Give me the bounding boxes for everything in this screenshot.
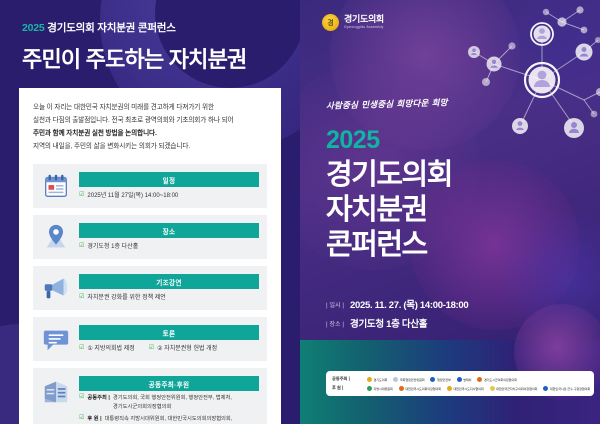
sponsor-logo: 법제처 [457,377,472,382]
check-icon: ☑ [79,243,84,251]
sponsor-logo-name: 대한민국시장·군수·구청장협의회 [550,386,590,391]
sponsor-logo: 국회행정안전위원회 [393,377,424,382]
sponsor-logo: 경기도시군의회의장협의회 [477,377,516,382]
crest-icon: 경 [322,14,339,31]
info-row-icon [41,171,71,201]
poster: 2025 경기도의회 자치분권 콘퍼런스 주민이 주도하는 자치분권 오늘 이 … [0,0,600,424]
right-panel: 경 경기도의회 Gyeonggido Assembly 사람중심 민생중심 희망… [300,0,600,424]
sponsor-emblem-icon [393,377,398,382]
sponsor-emblem-icon [430,377,435,382]
event-meta-tag: | 장소 | [326,319,344,328]
sponsor-emblem-icon [457,377,462,382]
sponsor-info-row: 공동주최·후원☑공동주최 |경기도의회, 국회 행정안전위원회, 행정안전부, … [33,368,267,424]
assembly-logo: 경 경기도의회 Gyeonggido Assembly [322,14,384,31]
info-row: 기조강연☑자치분권 강화를 위한 정책 제언 [33,266,267,310]
page-title: 주민이 주도하는 자치분권 [22,42,278,74]
sponsor-row-support: 후 원 | 지방시대위원회대한민국시도의회의장협의회대한민국시도지사협의회대한민… [332,385,588,391]
info-item-text: 2025년 11월 27일(목) 14:00~18:00 [87,192,178,201]
sponsor-logo-name: 대한민국군자치구의회의장협의회 [496,386,537,391]
info-row-heading: 토론 [79,325,259,340]
left-panel: 2025 경기도의회 자치분권 콘퍼런스 주민이 주도하는 자치분권 오늘 이 … [0,0,300,424]
sponsor-line-key: 공동주최 | [87,394,109,411]
info-row-icon [41,222,71,252]
info-row-items: ☑2025년 11월 27일(목) 14:00~18:00 [79,192,259,201]
check-icon: ☑ [79,415,84,424]
lead-line: 오늘 이 자리는 대한민국 자치분권의 미래를 견고하게 다져가기 위한 [33,102,267,115]
info-row-icon [41,273,71,303]
sponsor-logo: 대한민국군자치구의회의장협의회 [490,386,538,391]
sponsor-logo: 경기도의회 [367,377,387,382]
info-row: 장소☑경기도청 1층 다산홀 [33,215,267,259]
sponsor-logo: 지방시대위원회 [367,386,393,391]
info-row-body: 일정☑2025년 11월 27일(목) 14:00~18:00 [79,171,259,201]
lead-line: 실천과 다짐의 출발점입니다. 전국 최초로 광역의회와 기초의회가 하나 되어 [33,115,267,128]
lead-paragraph: 오늘 이 자리는 대한민국 자치분권의 미래를 견고하게 다져가기 위한실천과 … [33,102,267,153]
logo-korean: 경기도의회 [344,15,384,24]
info-item: ☑② 자치분권형 헌법 개정 [149,345,217,354]
info-item-text: 경기도청 1층 다산홀 [87,243,138,252]
lead-line: 지역의 내일을, 주민의 삶을 변화시키는 의회가 되겠습니다. [33,141,267,154]
right-title-line: 콘퍼런스 [326,228,452,263]
sponsor-emblem-icon [490,386,495,391]
people-network-graphic [434,0,600,146]
event-meta: | 일시 |2025. 11. 27. (목) 14:00-18:00| 장소 … [326,297,468,335]
sponsor-emblem-icon [367,386,372,391]
sponsor-line: ☑후 원 |대통령직속 지방시대위원회, 대한민국시도의회의장협의회, 대한민국… [79,415,259,424]
info-row-body: 토론☑① 지방의회법 제정☑② 자치분권형 헌법 개정 [79,324,259,354]
info-row-items: ☑① 지방의회법 제정☑② 자치분권형 헌법 개정 [79,345,259,354]
event-meta-row: | 장소 |경기도청 1층 다산홀 [326,316,468,330]
sponsor-emblem-icon [367,377,372,382]
info-item: ☑① 지방의회법 제정 [79,345,135,354]
event-meta-value: 경기도청 1층 다산홀 [350,316,427,330]
sponsor-line-value: 경기도의회, 국회 행정안전위원회, 행정안전부, 법제처, 경기도시군의회의장… [113,394,232,411]
info-row: 토론☑① 지방의회법 제정☑② 자치분권형 헌법 개정 [33,317,267,361]
sponsor-row1-label: 공동주최 | [332,376,362,382]
map-pin-icon [41,222,71,252]
sponsor-logo: 대한민국시도의회의장협의회 [399,386,441,391]
info-row-items: ☑자치분권 강화를 위한 정책 제언 [79,294,259,303]
sponsor-heading: 공동주최·후원 [79,376,259,391]
right-title-line: 경기도의회 [326,158,452,193]
sponsor-emblem-icon [399,386,404,391]
info-row-heading: 일정 [79,172,259,187]
right-title-line: 자치분권 [326,193,452,228]
info-item: ☑2025년 11월 27일(목) 14:00~18:00 [79,192,178,201]
sponsor-emblem-icon [477,377,482,382]
info-item-text: ② 자치분권형 헌법 개정 [157,345,217,354]
sponsor-logo-bar: 공동주최 | 경기도의회국회행정안전위원회행정안전부법제처경기도시군의회의장협의… [326,371,594,396]
sponsor-line-value: 대통령직속 지방시대위원회, 대한민국시도의회의장협의회, 대한민국시도지사협의… [105,415,236,424]
sponsor-logo: 대한민국시장·군수·구청장협의회 [543,386,590,391]
kicker: 2025 경기도의회 자치분권 콘퍼런스 [22,20,278,35]
check-icon: ☑ [79,345,84,353]
info-row-icon [41,324,71,354]
sponsor-emblem-icon [543,386,548,391]
speech-bubble-icon [41,324,71,354]
sponsor-logo: 행정안전부 [430,377,450,382]
building-icon [41,375,71,405]
info-row-heading: 장소 [79,223,259,238]
info-item: ☑경기도청 1층 다산홀 [79,243,138,252]
sponsor-logo-name: 경기도시군의회의장협의회 [484,377,517,382]
info-row-items: ☑경기도청 1층 다산홀 [79,243,259,252]
sponsor-logo-name: 경기도의회 [374,377,388,382]
sponsor-line: ☑공동주최 |경기도의회, 국회 행정안전위원회, 행정안전부, 법제처, 경기… [79,394,259,411]
info-row-heading: 기조강연 [79,274,259,289]
sponsor-line-key: 후 원 | [87,415,101,424]
info-card: 오늘 이 자리는 대한민국 자치분권의 미래를 견고하게 다져가기 위한실천과 … [19,88,281,424]
sponsor-logo: 대한민국시도지사협의회 [447,386,484,391]
sponsor-logo-name: 대한민국시도의회의장협의회 [405,386,441,391]
sponsor-logo-name: 행정안전부 [437,377,451,382]
sponsor-row-icon [41,375,71,405]
sponsor-row-host: 공동주최 | 경기도의회국회행정안전위원회행정안전부법제처경기도시군의회의장협의… [332,376,588,382]
event-meta-value: 2025. 11. 27. (목) 14:00-18:00 [350,297,468,311]
sponsor-logo-name: 대한민국시도지사협의회 [453,386,483,391]
info-item-text: 자치분권 강화를 위한 정책 제언 [87,294,165,303]
info-item: ☑자치분권 강화를 위한 정책 제언 [79,294,166,303]
sponsor-row-body: 공동주최·후원☑공동주최 |경기도의회, 국회 행정안전위원회, 행정안전부, … [79,375,259,424]
event-meta-row: | 일시 |2025. 11. 27. (목) 14:00-18:00 [326,297,468,311]
right-title: 경기도의회자치분권콘퍼런스 [326,158,452,262]
check-icon: ☑ [79,192,84,200]
megaphone-icon [41,273,71,303]
calendar-icon [41,171,71,201]
kicker-year: 2025 [22,22,45,34]
info-row: 일정☑2025년 11월 27일(목) 14:00~18:00 [33,164,267,208]
right-year: 2025 [326,126,380,155]
info-row-body: 장소☑경기도청 1층 다산홀 [79,222,259,252]
info-row-body: 기조강연☑자치분권 강화를 위한 정책 제언 [79,273,259,303]
check-icon: ☑ [79,394,84,411]
event-meta-tag: | 일시 | [326,300,344,309]
info-rows: 일정☑2025년 11월 27일(목) 14:00~18:00장소☑경기도청 1… [33,164,267,424]
logo-english: Gyeonggido Assembly [344,26,384,30]
sponsor-logo-name: 법제처 [463,377,471,382]
sponsor-logo-name: 국회행정안전위원회 [400,377,425,382]
lead-line: 주민과 함께 자치분권 실천 방법을 논의합니다. [33,128,267,141]
left-header: 2025 경기도의회 자치분권 콘퍼런스 주민이 주도하는 자치분권 [0,0,300,74]
info-item-text: ① 지방의회법 제정 [87,345,134,354]
sponsor-emblem-icon [447,386,452,391]
kicker-rest: 경기도의회 자치분권 콘퍼런스 [47,22,175,34]
sponsor-row2-label: 후 원 | [332,385,362,391]
check-icon: ☑ [79,294,84,302]
check-icon: ☑ [149,345,154,353]
sponsor-logo-name: 지방시대위원회 [374,386,393,391]
